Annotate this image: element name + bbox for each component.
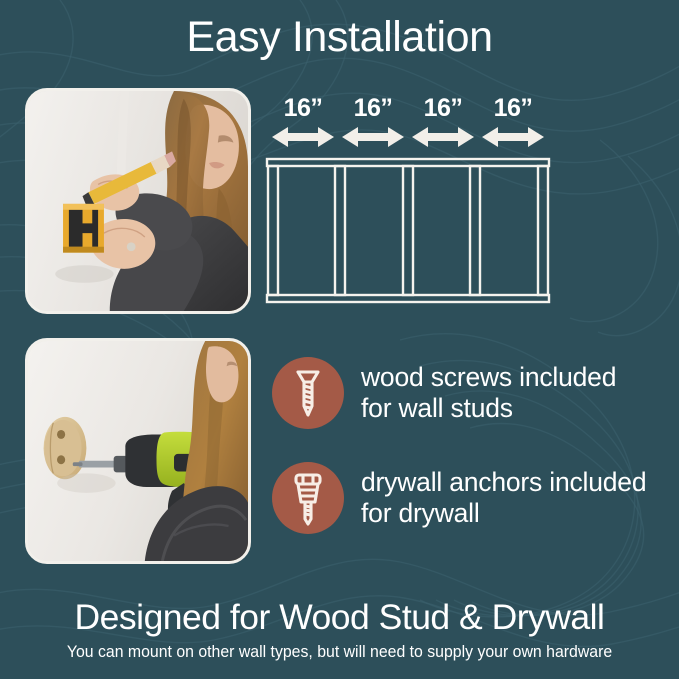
stud-spacing-diagram: 16” 16” 16” 16” xyxy=(262,96,554,311)
photo-drilling-wall xyxy=(25,338,251,564)
dimension-2: 16” xyxy=(408,96,478,148)
dimension-3: 16” xyxy=(478,96,548,148)
dimension-label-3: 16” xyxy=(494,96,533,121)
feature-drywall-anchors: drywall anchors included for drywall xyxy=(272,462,646,534)
dimension-label-0: 16” xyxy=(284,96,323,121)
stud-2 xyxy=(403,166,413,295)
dimension-1: 16” xyxy=(338,96,408,148)
footer-subtitle: You can mount on other wall types, but w… xyxy=(14,643,666,663)
feature-wood-screws-line2: for wall studs xyxy=(361,393,616,424)
drywall-anchor-icon xyxy=(286,470,330,526)
photo-marking-wall xyxy=(25,88,251,314)
feature-wood-screws-line1: wood screws included xyxy=(361,362,616,393)
photo-marking-wall-image xyxy=(28,91,248,311)
double-headed-arrow-icon xyxy=(272,126,334,148)
dimension-label-1: 16” xyxy=(354,96,393,121)
stud-4 xyxy=(538,166,548,295)
wall-frame-drawing xyxy=(262,155,554,307)
double-headed-arrow-icon xyxy=(412,126,474,148)
stud-3 xyxy=(470,166,480,295)
infographic-root: Easy Installation xyxy=(0,0,679,679)
dimension-0: 16” xyxy=(268,96,338,148)
feature-wood-screws-text: wood screws included for wall studs xyxy=(361,362,616,424)
feature-drywall-anchors-line2: for drywall xyxy=(361,498,646,529)
feature-drywall-anchors-text: drywall anchors included for drywall xyxy=(361,467,646,529)
stud-spacing-dimensions: 16” 16” 16” 16” xyxy=(268,96,548,148)
stud-1 xyxy=(335,166,345,295)
wood-screw-badge xyxy=(272,357,344,429)
wood-screw-icon xyxy=(286,366,330,420)
photo-drilling-wall-image xyxy=(28,341,248,561)
feature-drywall-anchors-line1: drywall anchors included xyxy=(361,467,646,498)
stud-0 xyxy=(268,166,278,295)
feature-wood-screws: wood screws included for wall studs xyxy=(272,357,616,429)
footer-title: Designed for Wood Stud & Drywall xyxy=(0,597,679,638)
double-headed-arrow-icon xyxy=(342,126,404,148)
page-title: Easy Installation xyxy=(0,14,679,61)
dimension-label-2: 16” xyxy=(424,96,463,121)
drywall-anchor-badge xyxy=(272,462,344,534)
footer-block: Designed for Wood Stud & Drywall You can… xyxy=(0,597,679,663)
double-headed-arrow-icon xyxy=(482,126,544,148)
